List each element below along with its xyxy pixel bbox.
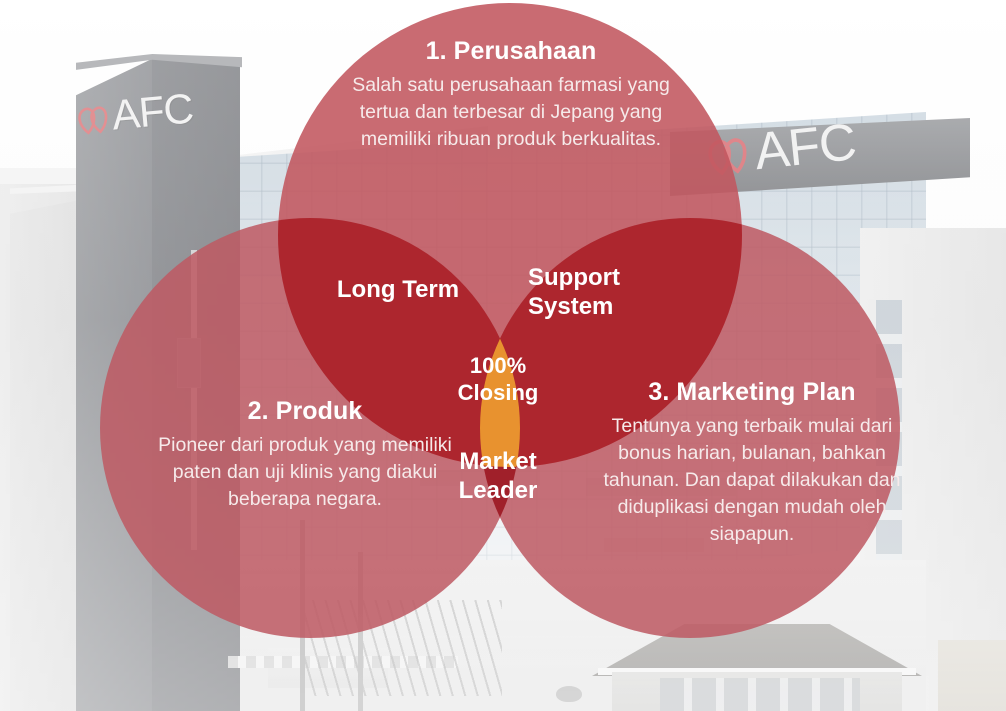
label-market-leader: Market Leader: [432, 447, 564, 505]
body-marketing-plan: Tentunya yang terbaik mulai dari bonus h…: [597, 413, 907, 548]
heading-perusahaan: 1. Perusahaan: [346, 36, 676, 66]
circle-text-marketing-plan: 3. Marketing Plan Tentunya yang terbaik …: [597, 377, 907, 548]
label-closing-line2: Closing: [437, 379, 559, 406]
label-support-system: Support System: [528, 263, 696, 321]
heading-marketing-plan: 3. Marketing Plan: [597, 377, 907, 407]
body-produk: Pioneer dari produk yang memiliki paten …: [155, 432, 455, 513]
circle-text-perusahaan: 1. Perusahaan Salah satu perusahaan farm…: [346, 36, 676, 153]
label-support-system-line2: System: [528, 292, 696, 321]
label-closing-line1: 100%: [437, 352, 559, 379]
label-long-term: Long Term: [300, 275, 496, 304]
circle-text-produk: 2. Produk Pioneer dari produk yang memil…: [155, 396, 455, 513]
label-support-system-line1: Support: [528, 263, 696, 292]
label-closing: 100% Closing: [437, 352, 559, 406]
infographic-canvas: AFC AFC: [0, 0, 1006, 711]
body-perusahaan: Salah satu perusahaan farmasi yang tertu…: [346, 72, 676, 153]
label-market-leader-line1: Market: [432, 447, 564, 476]
label-market-leader-line2: Leader: [432, 476, 564, 505]
heading-produk: 2. Produk: [155, 396, 455, 426]
